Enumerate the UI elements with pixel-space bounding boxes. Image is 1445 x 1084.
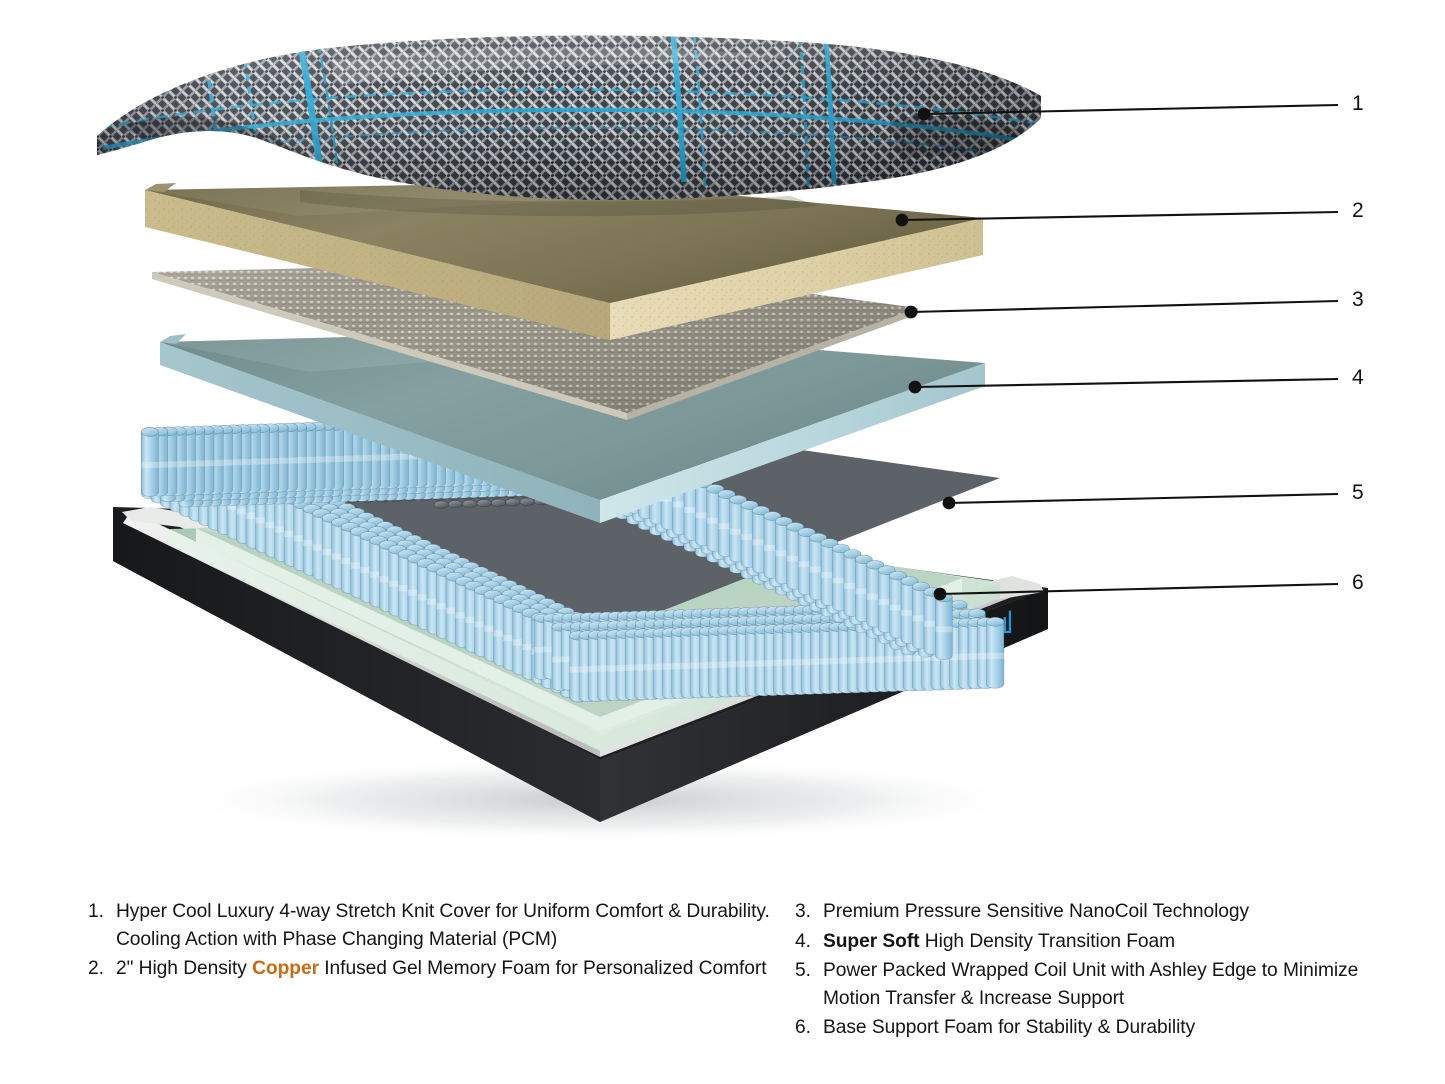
legend-item-2: 2.2" High Density Copper Infused Gel Mem… bbox=[88, 955, 778, 983]
legend-column-right: 3.Premium Pressure Sensitive NanoCoil Te… bbox=[795, 898, 1375, 1044]
legend-item-text: Base Support Foam for Stability & Durabi… bbox=[823, 1014, 1375, 1042]
leader-dot-3 bbox=[905, 306, 918, 319]
pocket-coil-right bbox=[986, 617, 1004, 688]
coil-top-inner bbox=[520, 498, 534, 505]
legend-plain-text: Base Support Foam for Stability & Durabi… bbox=[823, 1017, 1195, 1038]
legend-plain-text: High Density Transition Foam bbox=[920, 931, 1176, 952]
legend-item-number: 2. bbox=[88, 955, 116, 983]
leader-number-3: 3 bbox=[1352, 288, 1364, 312]
legend-plain-text: Hyper Cool Luxury 4-way Stretch Knit Cov… bbox=[116, 901, 770, 950]
leader-number-4: 4 bbox=[1352, 366, 1364, 390]
legend-item-3: 3.Premium Pressure Sensitive NanoCoil Te… bbox=[795, 898, 1375, 926]
leader-lines-group bbox=[896, 105, 1338, 600]
leader-dot-4 bbox=[909, 381, 922, 394]
leader-number-6: 6 bbox=[1352, 571, 1364, 595]
leader-dot-1 bbox=[918, 108, 931, 121]
legend-item-number: 1. bbox=[88, 898, 116, 926]
legend-item-5: 5.Power Packed Wrapped Coil Unit with As… bbox=[795, 957, 1375, 1012]
leader-dot-2 bbox=[896, 214, 909, 227]
leader-line-3 bbox=[911, 301, 1338, 312]
leader-line-5 bbox=[949, 494, 1338, 503]
legend-item-text: 2" High Density Copper Infused Gel Memor… bbox=[116, 955, 778, 983]
coil-top-inner bbox=[477, 500, 491, 507]
pocket-coil-right-edge bbox=[935, 593, 952, 660]
legend-plain-text: 2" High Density bbox=[116, 958, 252, 979]
legend-item-6: 6.Base Support Foam for Stability & Dura… bbox=[795, 1014, 1375, 1042]
mattress-diagram-page: 123456 1.Hyper Cool Luxury 4-way Stretch… bbox=[0, 0, 1445, 1084]
legend-item-number: 3. bbox=[795, 898, 823, 926]
coil-top-inner bbox=[434, 501, 448, 508]
legend-plain-text: Power Packed Wrapped Coil Unit with Ashl… bbox=[823, 960, 1358, 1009]
legend-item-number: 4. bbox=[795, 928, 823, 956]
legend-plain-text: Premium Pressure Sensitive NanoCoil Tech… bbox=[823, 901, 1249, 922]
legend-plain-text: Infused Gel Memory Foam for Personalized… bbox=[319, 958, 767, 979]
coil-top-inner bbox=[506, 499, 520, 506]
legend-column-left: 1.Hyper Cool Luxury 4-way Stretch Knit C… bbox=[88, 898, 778, 985]
legend-item-text: Super Soft High Density Transition Foam bbox=[823, 928, 1375, 956]
coil-top-inner bbox=[448, 501, 462, 508]
pocket-coil-back bbox=[142, 428, 159, 497]
coil-top-inner bbox=[463, 500, 477, 507]
leader-number-5: 5 bbox=[1352, 481, 1364, 505]
leader-dot-6 bbox=[934, 588, 947, 601]
copper-highlight: Copper bbox=[252, 958, 319, 979]
legend: 1.Hyper Cool Luxury 4-way Stretch Knit C… bbox=[0, 898, 1445, 1068]
legend-item-text: Premium Pressure Sensitive NanoCoil Tech… bbox=[823, 898, 1375, 926]
coil-top-inner bbox=[491, 499, 505, 506]
leader-line-2 bbox=[902, 212, 1338, 220]
legend-item-1: 1.Hyper Cool Luxury 4-way Stretch Knit C… bbox=[88, 898, 778, 953]
legend-item-text: Power Packed Wrapped Coil Unit with Ashl… bbox=[823, 957, 1375, 1012]
leader-dot-5 bbox=[943, 497, 956, 510]
legend-item-text: Hyper Cool Luxury 4-way Stretch Knit Cov… bbox=[116, 898, 778, 953]
legend-item-4: 4.Super Soft High Density Transition Foa… bbox=[795, 928, 1375, 956]
leader-number-1: 1 bbox=[1352, 92, 1364, 116]
legend-item-number: 6. bbox=[795, 1014, 823, 1042]
leader-number-2: 2 bbox=[1352, 199, 1364, 223]
legend-item-number: 5. bbox=[795, 957, 823, 985]
legend-bold-text: Super Soft bbox=[823, 931, 920, 952]
